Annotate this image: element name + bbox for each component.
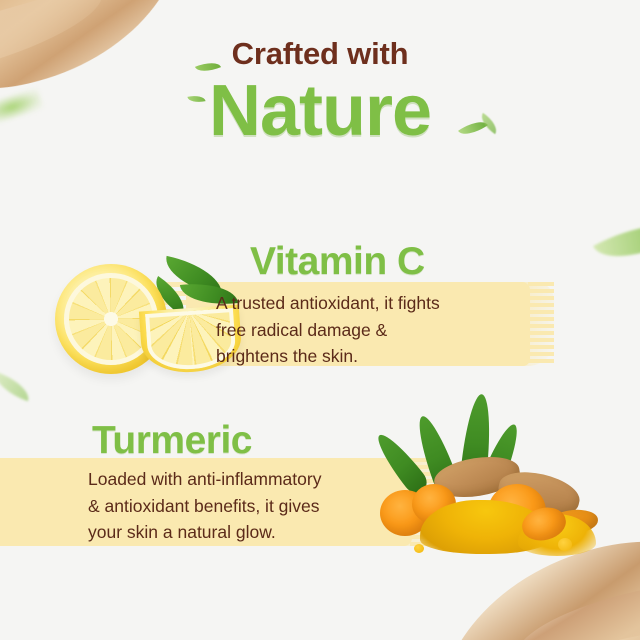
ingredient-heading-turmeric: Turmeric [92,421,252,460]
bottom-right-brush-decoration-2 [508,566,640,640]
turmeric-nub [414,544,424,553]
vitamin-c-highlight-band-taper [510,282,554,366]
ingredient-heading-vitamin-c: Vitamin C [250,242,425,281]
ingredient-infographic-card: Crafted with Nature Vitamin C A trusted … [0,0,640,640]
turmeric-nub [558,538,572,551]
ingredient-description-vitamin-c: A trusted antioxidant, it fights free ra… [216,290,516,370]
ingredient-description-turmeric: Loaded with anti-inflammatory & antioxid… [88,466,388,546]
turmeric-photo [372,392,608,568]
headline-line-2: Nature [0,75,640,148]
lemon-photo [45,252,237,380]
headline-line-1: Crafted with [0,38,640,69]
lemon-core [104,312,117,325]
headline-block: Crafted with Nature [0,38,640,148]
leaf-icon [0,372,34,402]
leaf-icon [593,206,640,276]
